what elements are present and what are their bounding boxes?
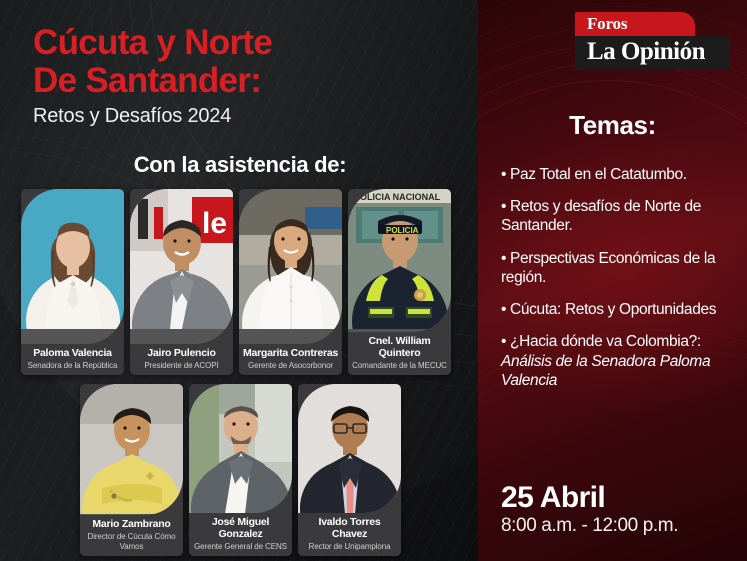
- speaker-role: Comandante de la MECUC: [350, 361, 449, 370]
- topics-heading: Temas:: [478, 110, 747, 141]
- event-date-block: 25 Abril 8:00 a.m. - 12:00 p.m.: [501, 482, 741, 537]
- speaker-card[interactable]: le Jairo Pulencio Presidente: [130, 189, 233, 375]
- speaker-info: Margarita Contreras Gerente de Asocorbon…: [239, 344, 342, 375]
- speaker-role: Director de Cúcuta Cómo Vamos: [82, 532, 181, 551]
- speaker-name: Margarita Contreras: [241, 348, 340, 360]
- topic-text: • Cúcuta: Retos y Oportunidades: [501, 301, 716, 318]
- portrait-illustration: [298, 384, 401, 513]
- speaker-name: Paloma Valencia: [23, 348, 122, 360]
- topic-item: • Paz Total en el Catatumbo.: [501, 165, 736, 184]
- portrait-illustration: [80, 384, 183, 514]
- logo-laopinion-text: La Opinión: [587, 38, 705, 65]
- speaker-name: José Miguel Gonzalez: [191, 517, 290, 541]
- portrait-illustration: le: [130, 189, 233, 329]
- topic-item: • Retos y desafíos de Norte de Santander…: [501, 197, 736, 235]
- speaker-photo: POLICIA NACIONAL POLICIA: [348, 189, 451, 332]
- speaker-name: Mario Zambrano: [82, 519, 181, 531]
- poster-title-block: Cúcuta y Norte De Santander: Retos y Des…: [33, 24, 453, 128]
- portrait-illustration: [239, 189, 342, 329]
- speaker-photo: [239, 189, 342, 344]
- speaker-name: Cnel. William Quintero: [350, 336, 449, 360]
- speakers-row-2: Mario Zambrano Director de Cúcuta Cómo V…: [80, 384, 401, 556]
- speaker-role: Gerente General de CENS: [191, 542, 290, 551]
- logo-laopinion-band: La Opinión: [575, 36, 730, 70]
- portrait-illustration: POLICIA NACIONAL POLICIA: [348, 189, 451, 329]
- speaker-card[interactable]: POLICIA NACIONAL POLICIA: [348, 189, 451, 375]
- topic-item: • Cúcuta: Retos y Oportunidades: [501, 300, 736, 319]
- page-title: Cúcuta y Norte De Santander:: [33, 24, 453, 100]
- logo-foros-band: Foros: [575, 12, 695, 36]
- speaker-name: Ivaldo Torres Chavez: [300, 517, 399, 541]
- svg-text:POLICIA NACIONAL: POLICIA NACIONAL: [354, 192, 441, 202]
- speaker-photo: [21, 189, 124, 344]
- speaker-card[interactable]: Margarita Contreras Gerente de Asocorbon…: [239, 189, 342, 375]
- speakers-row-1: Paloma Valencia Senadora de la República…: [21, 189, 451, 375]
- topic-text: • Retos y desafíos de Norte de Santander…: [501, 198, 701, 234]
- topic-text: • ¿Hacia dónde va Colombia?:: [501, 333, 701, 350]
- assistance-heading: Con la asistencia de:: [0, 152, 480, 178]
- topic-item: • ¿Hacia dónde va Colombia?: Análisis de…: [501, 332, 736, 390]
- speaker-role: Gerente de Asocorbonor: [241, 361, 340, 370]
- speaker-role: Presidente de ACOPI: [132, 361, 231, 370]
- speaker-card[interactable]: Mario Zambrano Director de Cúcuta Cómo V…: [80, 384, 183, 556]
- speaker-info: José Miguel Gonzalez Gerente General de …: [189, 513, 292, 556]
- svg-text:POLICIA: POLICIA: [386, 226, 419, 235]
- logo-foros-text: Foros: [587, 14, 627, 33]
- event-poster: Cúcuta y Norte De Santander: Retos y Des…: [0, 0, 747, 561]
- logo[interactable]: Foros La Opinión: [575, 12, 730, 70]
- speaker-name: Jairo Pulencio: [132, 348, 231, 360]
- speaker-photo: le: [130, 189, 233, 344]
- speaker-card[interactable]: Paloma Valencia Senadora de la República: [21, 189, 124, 375]
- event-time: 8:00 a.m. - 12:00 p.m.: [501, 515, 741, 537]
- speaker-photo: [298, 384, 401, 513]
- speaker-card[interactable]: José Miguel Gonzalez Gerente General de …: [189, 384, 292, 556]
- portrait-illustration: [21, 189, 124, 329]
- speaker-info: Paloma Valencia Senadora de la República: [21, 344, 124, 375]
- title-line-2: De Santander:: [33, 62, 453, 100]
- speaker-photo: [189, 384, 292, 513]
- speaker-info: Cnel. William Quintero Comandante de la …: [348, 332, 451, 375]
- topic-emphasis: Análisis de la Senadora Paloma Valencia: [501, 353, 710, 389]
- speaker-info: Jairo Pulencio Presidente de ACOPI: [130, 344, 233, 375]
- title-line-1: Cúcuta y Norte: [33, 24, 453, 62]
- page-subtitle: Retos y Desafíos 2024: [33, 105, 453, 128]
- speaker-info: Ivaldo Torres Chavez Rector de Unipamplo…: [298, 513, 401, 556]
- event-date: 25 Abril: [501, 482, 741, 514]
- topic-text: • Perspectivas Económicas de la región.: [501, 250, 715, 286]
- speaker-card[interactable]: Ivaldo Torres Chavez Rector de Unipamplo…: [298, 384, 401, 556]
- topic-text: • Paz Total en el Catatumbo.: [501, 166, 687, 183]
- speaker-info: Mario Zambrano Director de Cúcuta Cómo V…: [80, 515, 183, 556]
- speaker-role: Rector de Unipamplona: [300, 542, 399, 551]
- topics-list: • Paz Total en el Catatumbo. • Retos y d…: [501, 165, 736, 403]
- speaker-role: Senadora de la República: [23, 361, 122, 370]
- portrait-illustration: [189, 384, 292, 513]
- topic-item: • Perspectivas Económicas de la región.: [501, 249, 736, 287]
- svg-text:le: le: [202, 207, 227, 240]
- speaker-photo: [80, 384, 183, 515]
